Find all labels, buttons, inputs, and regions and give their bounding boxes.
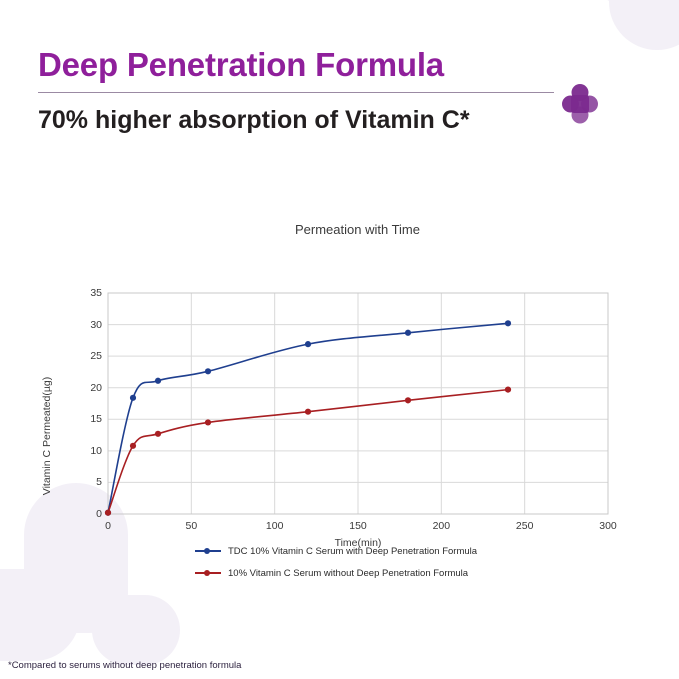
y-axis-tick-label: 25 <box>66 350 102 362</box>
legend-label-series-1: TDC 10% Vitamin C Serum with Deep Penetr… <box>228 546 477 557</box>
x-axis-tick-label: 50 <box>171 520 211 532</box>
page-title: Deep Penetration Formula <box>38 46 642 84</box>
decorative-blob-top-right-1 <box>609 0 679 50</box>
x-axis-tick-label: 300 <box>588 520 628 532</box>
legend-marker-series-1 <box>195 546 221 556</box>
decorative-blob-bottom-left-3 <box>92 595 180 665</box>
page-subtitle: 70% higher absorption of Vitamin C* <box>38 93 642 135</box>
x-axis-tick-label: 0 <box>88 520 128 532</box>
y-axis-tick-label: 30 <box>66 319 102 331</box>
y-axis-tick-label: 10 <box>66 445 102 457</box>
x-axis-tick-label: 100 <box>255 520 295 532</box>
y-axis-tick-label: 0 <box>66 508 102 520</box>
legend-marker-series-2 <box>195 568 221 578</box>
x-axis-tick-label: 250 <box>505 520 545 532</box>
chart-block: Permeation with Time Vitamin C Permeated… <box>0 222 679 542</box>
chart-legend: TDC 10% Vitamin C Serum with Deep Penetr… <box>0 540 679 584</box>
purple-cross-icon <box>562 84 598 124</box>
header: Deep Penetration Formula 70% higher abso… <box>38 46 642 135</box>
chart-title: Permeation with Time <box>0 222 679 237</box>
x-axis-tick-label: 150 <box>338 520 378 532</box>
y-axis-tick-label: 35 <box>66 287 102 299</box>
chart-plot-area: Vitamin C Permeated(µg) Time(min) 051015… <box>0 250 679 540</box>
y-axis-label: Vitamin C Permeated(µg) <box>41 331 53 541</box>
decorative-blob-top-right-2 <box>587 0 661 4</box>
y-axis-tick-label: 20 <box>66 382 102 394</box>
x-axis-tick-label: 200 <box>421 520 461 532</box>
footnote: *Compared to serums without deep penetra… <box>8 660 241 671</box>
legend-label-series-2: 10% Vitamin C Serum without Deep Penetra… <box>228 568 468 579</box>
y-axis-tick-label: 5 <box>66 476 102 488</box>
y-axis-tick-label: 15 <box>66 413 102 425</box>
legend-item: 10% Vitamin C Serum without Deep Penetra… <box>0 562 679 584</box>
legend-item: TDC 10% Vitamin C Serum with Deep Penetr… <box>0 540 679 562</box>
